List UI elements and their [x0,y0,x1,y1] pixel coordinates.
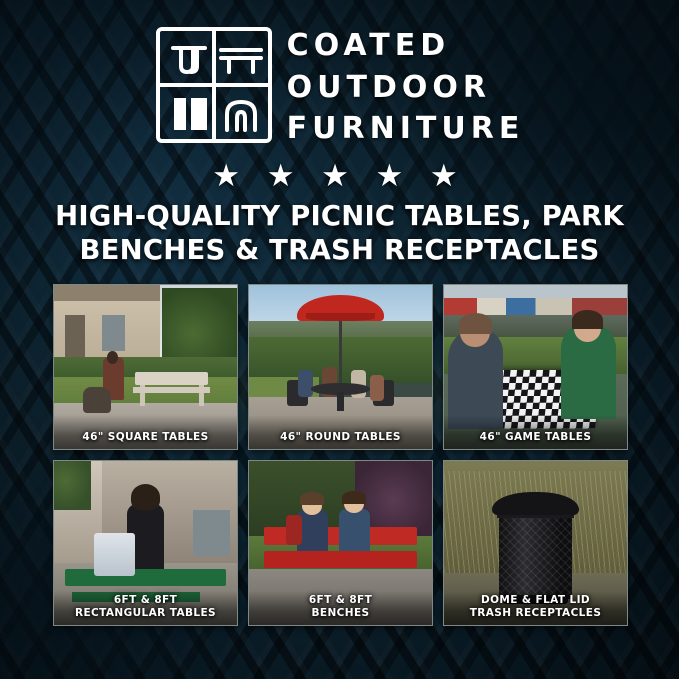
brand-logo: COATED OUTDOOR FURNITURE [0,22,679,149]
brand-name-line-1: COATED [287,26,525,66]
gallery-item-benches[interactable]: 6FT & 8FT BENCHES [248,460,433,626]
brand-name-line-2: OUTDOOR [287,68,525,108]
picnic-table-bench-trash-grid-icon [155,26,273,144]
gallery-caption: 6FT & 8FT BENCHES [249,589,432,625]
gallery-caption: DOME & FLAT LID TRASH RECEPTACLES [444,589,627,625]
star-rating: ★ ★ ★ ★ ★ [0,160,679,191]
gallery-caption: 6FT & 8FT RECTANGULAR TABLES [54,589,237,625]
brand-name-line-3: FURNITURE [287,109,525,149]
headline-line-2: BENCHES & TRASH RECEPTACLES [0,234,679,268]
gallery-caption: 46" ROUND TABLES [249,426,432,449]
headline-line-1: HIGH-QUALITY PICNIC TABLES, PARK [0,200,679,234]
gallery-item-game-tables[interactable]: 46" GAME TABLES [443,284,628,450]
gallery-caption: 46" SQUARE TABLES [54,426,237,449]
gallery-item-rectangular-tables[interactable]: 6FT & 8FT RECTANGULAR TABLES [53,460,238,626]
gallery-caption: 46" GAME TABLES [444,426,627,449]
gallery-item-trash-receptacles[interactable]: DOME & FLAT LID TRASH RECEPTACLES [443,460,628,626]
gallery-item-round-tables[interactable]: 46" ROUND TABLES [248,284,433,450]
banner-content: COATED OUTDOOR FURNITURE ★ ★ ★ ★ ★ HIGH-… [0,0,679,679]
product-banner: COATED OUTDOOR FURNITURE ★ ★ ★ ★ ★ HIGH-… [0,0,679,679]
product-gallery: 46" SQUARE TABLES 46" ROUND TABLES [53,284,626,624]
gallery-item-square-tables[interactable]: 46" SQUARE TABLES [53,284,238,450]
headline: HIGH-QUALITY PICNIC TABLES, PARK BENCHES… [0,200,679,267]
brand-wordmark: COATED OUTDOOR FURNITURE [287,22,525,149]
